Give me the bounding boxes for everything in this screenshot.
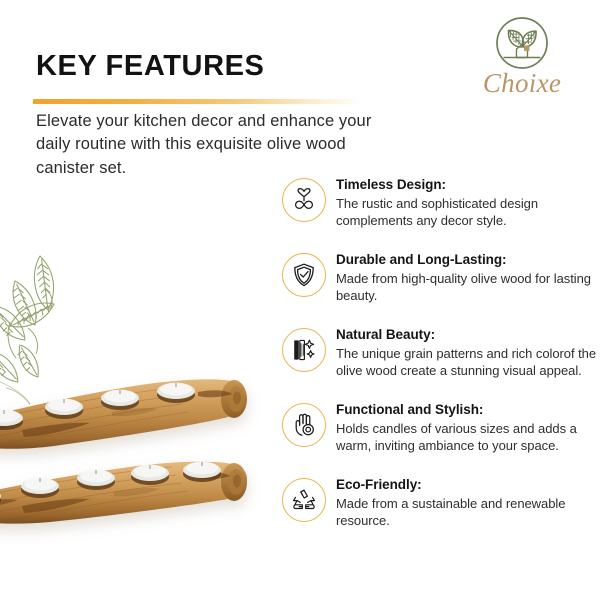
shield-check-icon [282, 253, 326, 297]
product-feature-infographic: Choixe KEY FEATURES Elevate your kitchen… [0, 0, 600, 600]
page-title: KEY FEATURES [36, 52, 265, 81]
ok-hand-icon [282, 403, 326, 447]
feature-description: Made from high-quality olive wood for la… [336, 270, 600, 305]
feature-item-timeless-design: Timeless Design: The rustic and sophisti… [282, 176, 600, 238]
olive-wood-candle-holders [0, 248, 300, 548]
intro-paragraph: Elevate your kitchen decor and enhance y… [36, 110, 382, 180]
heart-infinity-icon [282, 178, 326, 222]
feature-title: Durable and Long-Lasting: [336, 251, 600, 269]
feature-description: The unique grain patterns and rich color… [336, 345, 600, 380]
feature-description: The rustic and sophisticated design comp… [336, 195, 600, 230]
wood-planks-sparkle-icon [282, 328, 326, 372]
feature-description: Made from a sustainable and renewable re… [336, 495, 600, 530]
feature-title: Natural Beauty: [336, 326, 600, 344]
feature-description: Holds candles of various sizes and adds … [336, 420, 600, 455]
brand-wordmark: Choixe [462, 70, 582, 97]
title-divider [33, 99, 363, 104]
feature-title: Eco-Friendly: [336, 476, 600, 494]
feature-item-eco-friendly: Eco-Friendly: Made from a sustainable an… [282, 476, 600, 538]
feature-title: Functional and Stylish: [336, 401, 600, 419]
feature-item-functional-stylish: Functional and Stylish: Holds candles of… [282, 401, 600, 463]
feature-list: Timeless Design: The rustic and sophisti… [282, 176, 600, 538]
brand-logo: Choixe [462, 14, 582, 97]
feature-item-durable-long-lasting: Durable and Long-Lasting: Made from high… [282, 251, 600, 313]
leaf-house-emblem-icon [491, 14, 553, 72]
feature-title: Timeless Design: [336, 176, 600, 194]
candle-holder-bottom [0, 438, 266, 534]
feature-item-natural-beauty: Natural Beauty: The unique grain pattern… [282, 326, 600, 388]
recycle-icon [282, 478, 326, 522]
